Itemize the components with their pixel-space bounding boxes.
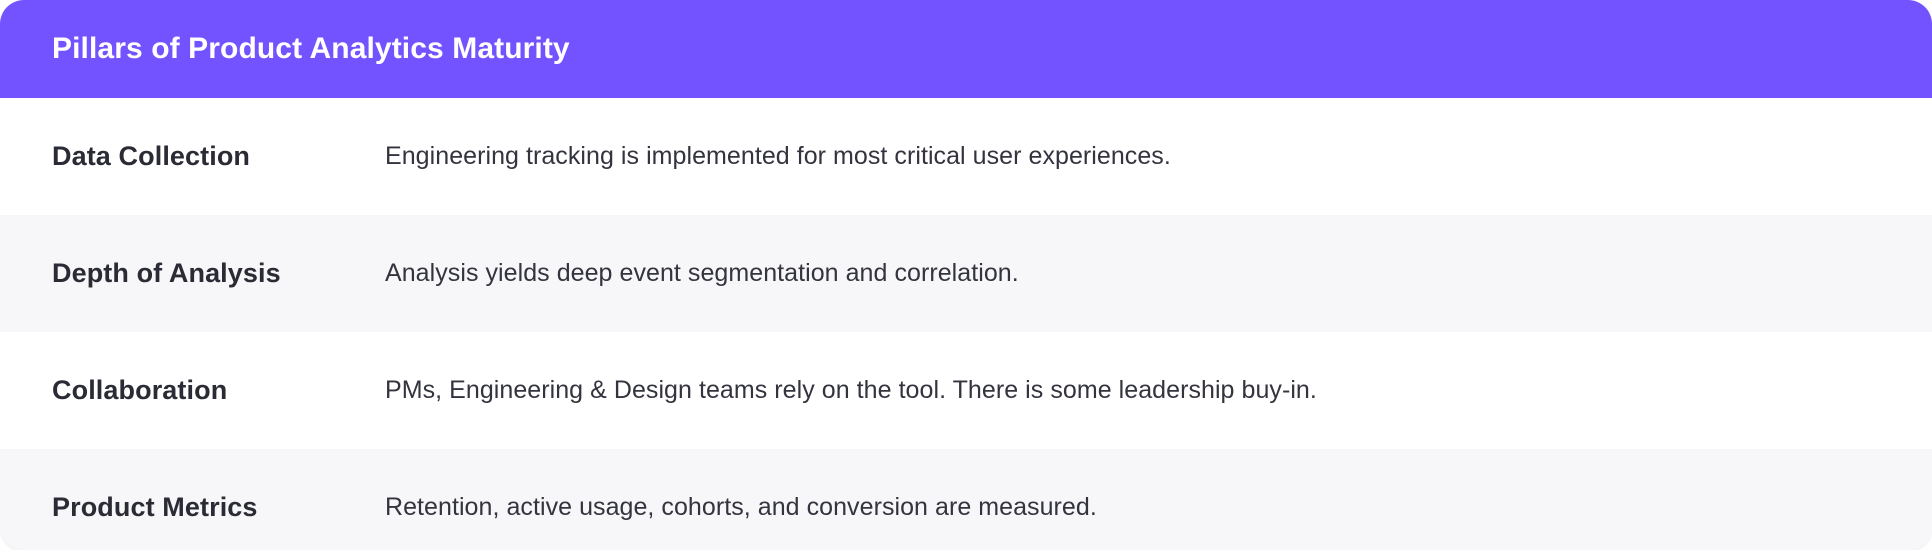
pillar-description: PMs, Engineering & Design teams rely on … — [385, 374, 1880, 407]
pillar-rows-list: Data Collection Engineering tracking is … — [0, 98, 1932, 550]
pillar-description: Retention, active usage, cohorts, and co… — [385, 491, 1880, 524]
pillar-label: Data Collection — [52, 140, 385, 174]
maturity-pillars-card: Pillars of Product Analytics Maturity Da… — [0, 0, 1932, 550]
table-row: Collaboration PMs, Engineering & Design … — [0, 332, 1932, 449]
table-row: Depth of Analysis Analysis yields deep e… — [0, 215, 1932, 332]
pillar-label: Product Metrics — [52, 491, 385, 525]
pillar-label: Depth of Analysis — [52, 257, 385, 291]
table-row: Data Collection Engineering tracking is … — [0, 98, 1932, 215]
pillar-description: Analysis yields deep event segmentation … — [385, 257, 1880, 290]
card-title: Pillars of Product Analytics Maturity — [52, 31, 570, 67]
pillar-description: Engineering tracking is implemented for … — [385, 140, 1880, 173]
card-header: Pillars of Product Analytics Maturity — [0, 0, 1932, 98]
table-row: Product Metrics Retention, active usage,… — [0, 449, 1932, 550]
pillar-label: Collaboration — [52, 374, 385, 408]
